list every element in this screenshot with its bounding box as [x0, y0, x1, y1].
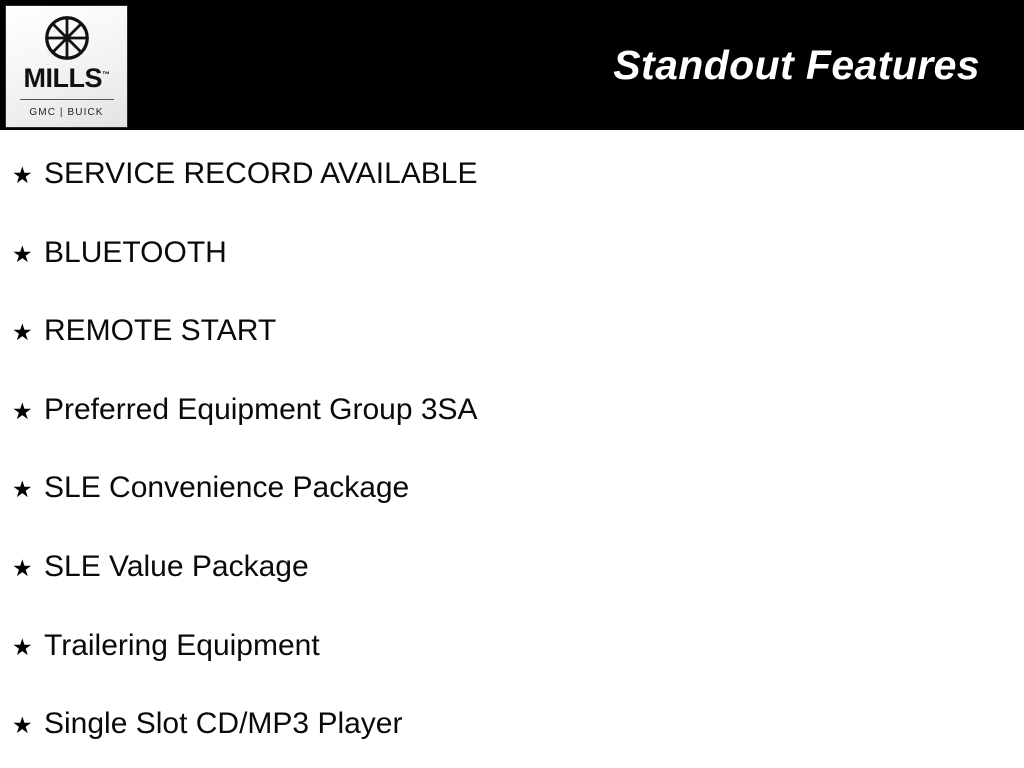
list-item: ★Trailering Equipment	[12, 631, 320, 661]
feature-label: Preferred Equipment Group 3SA	[44, 395, 478, 425]
feature-label: REMOTE START	[44, 316, 276, 346]
star-bullet-icon: ★	[12, 243, 44, 266]
star-bullet-icon: ★	[12, 636, 44, 659]
star-bullet-icon: ★	[12, 478, 44, 501]
feature-label: SLE Convenience Package	[44, 473, 409, 503]
page-title: Standout Features	[613, 0, 980, 130]
logo-brands-label: GMC | BUICK	[29, 107, 103, 118]
feature-label: BLUETOOTH	[44, 238, 227, 268]
star-bullet-icon: ★	[12, 714, 44, 737]
star-bullet-icon: ★	[12, 400, 44, 423]
mills-wheel-icon	[44, 15, 90, 61]
star-bullet-icon: ★	[12, 557, 44, 580]
standout-features-list: ★SERVICE RECORD AVAILABLE★BLUETOOTH★REMO…	[0, 130, 1024, 768]
dealer-logo: MILLS™ GMC | BUICK	[5, 5, 128, 128]
list-item: ★BLUETOOTH	[12, 238, 227, 268]
feature-label: Trailering Equipment	[44, 631, 320, 661]
logo-wordmark: MILLS™	[24, 65, 110, 92]
star-bullet-icon: ★	[12, 164, 44, 187]
list-item: ★Single Slot CD/MP3 Player	[12, 709, 402, 739]
trademark-icon: ™	[102, 70, 110, 79]
list-item: ★SLE Value Package	[12, 552, 309, 582]
list-item: ★SLE Convenience Package	[12, 473, 409, 503]
list-item: ★REMOTE START	[12, 316, 276, 346]
list-item: ★Preferred Equipment Group 3SA	[12, 395, 478, 425]
logo-divider	[20, 99, 114, 100]
header-band: MILLS™ GMC | BUICK Standout Features	[0, 0, 1024, 130]
feature-label: Single Slot CD/MP3 Player	[44, 709, 402, 739]
feature-label: SERVICE RECORD AVAILABLE	[44, 159, 478, 189]
logo-wordmark-text: MILLS	[24, 63, 103, 93]
list-item: ★SERVICE RECORD AVAILABLE	[12, 159, 478, 189]
feature-label: SLE Value Package	[44, 552, 309, 582]
star-bullet-icon: ★	[12, 321, 44, 344]
